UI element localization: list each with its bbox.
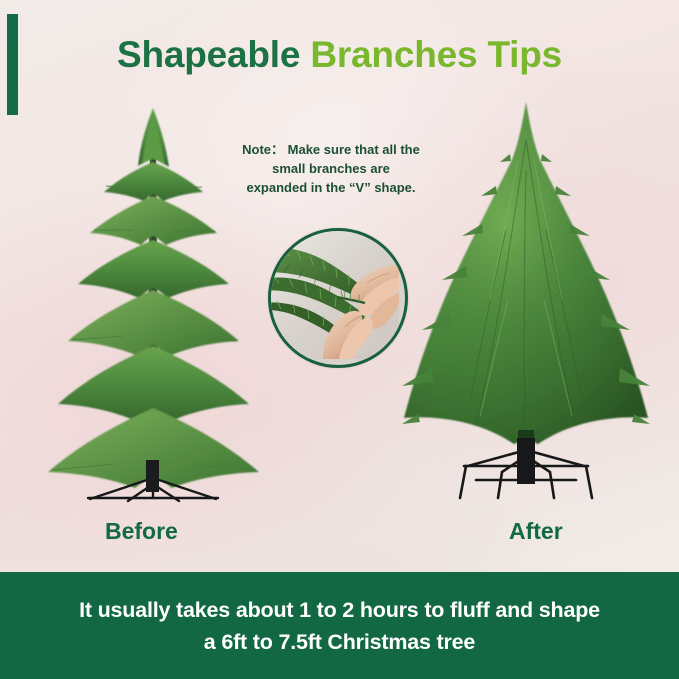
bottom-banner-text: It usually takes about 1 to 2 hours to f… <box>20 594 660 658</box>
note-line-1: Note： Make sure that all the <box>200 140 462 159</box>
banner-line-2: a 6ft to 7.5ft Christmas tree <box>20 626 660 658</box>
bottom-banner: It usually takes about 1 to 2 hours to f… <box>0 572 679 679</box>
note-line-2: small branches are <box>200 159 462 178</box>
before-label: Before <box>105 518 178 545</box>
note-text: Note： Make sure that all the small branc… <box>200 140 462 197</box>
note-line-3: expanded in the “V” shape. <box>200 178 462 197</box>
product-infographic-poster: Shapeable Branches Tips <box>0 0 679 679</box>
branch-shaping-inset-photo <box>268 228 408 368</box>
banner-line-1: It usually takes about 1 to 2 hours to f… <box>20 594 660 626</box>
page-title: Shapeable Branches Tips <box>0 33 679 77</box>
page-title-primary: Shapeable <box>117 34 310 75</box>
after-label: After <box>509 518 563 545</box>
page-title-secondary: Branches Tips <box>310 34 562 75</box>
